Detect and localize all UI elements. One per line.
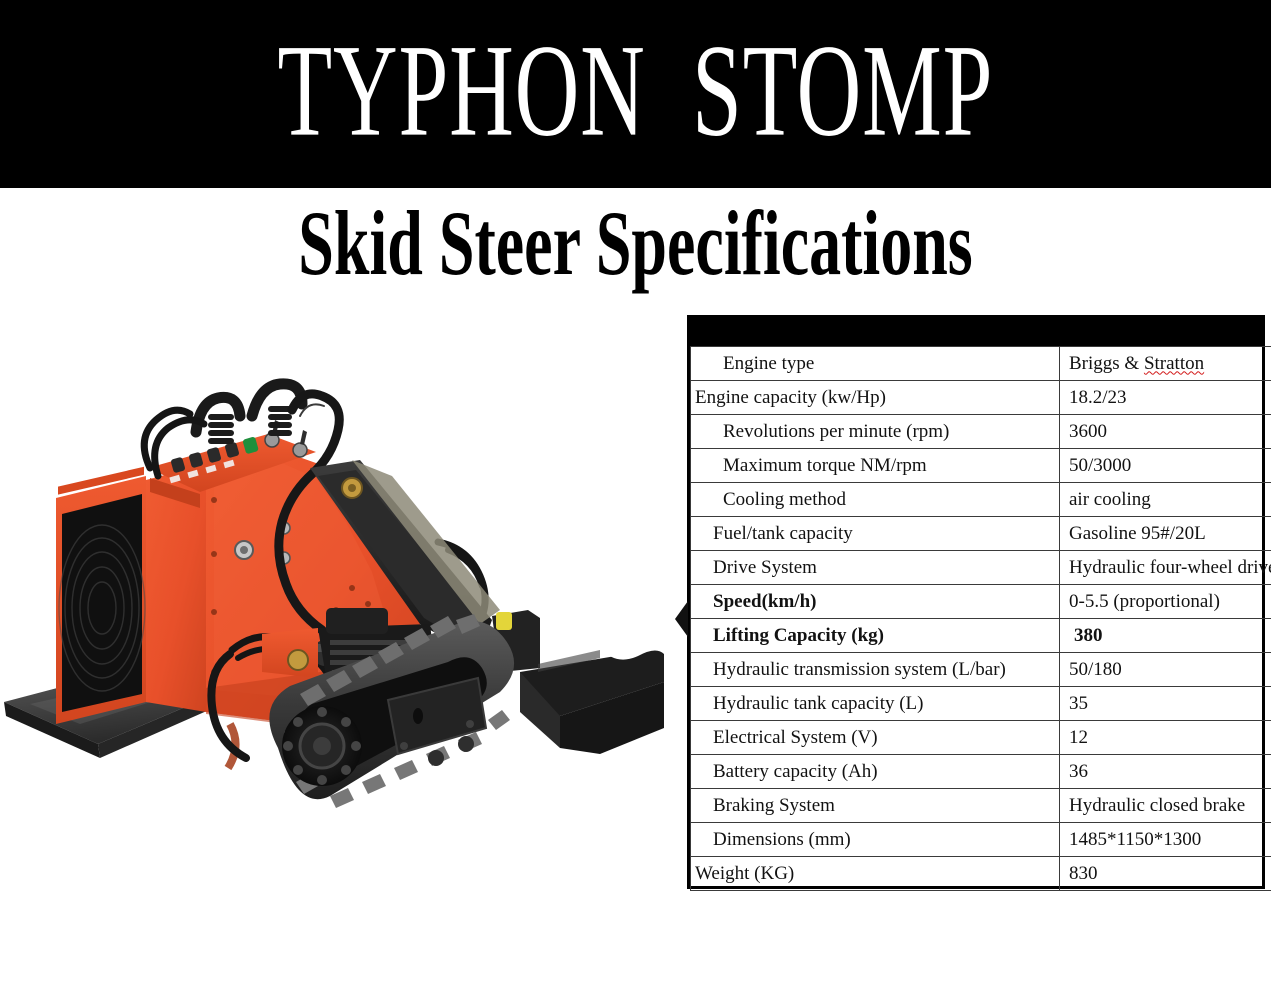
table-row: Electrical System (V) 12 [691, 721, 1271, 755]
spec-label: Hydraulic transmission system (L/bar) [691, 653, 1060, 687]
table-row: Battery capacity (Ah) 36 [691, 755, 1271, 789]
table-header-bar [690, 318, 1262, 346]
table-row: Lifting Capacity (kg) 380 [691, 619, 1271, 653]
spec-label: Speed(km/h) [691, 585, 1060, 619]
table-row: Dimensions (mm) 1485*1150*1300 [691, 823, 1271, 857]
spec-value: 50/3000 [1060, 449, 1271, 483]
table-row: Drive System Hydraulic four-wheel drive [691, 551, 1271, 585]
spec-label: Dimensions (mm) [691, 823, 1060, 857]
spec-label: Electrical System (V) [691, 721, 1060, 755]
table-row: Speed(km/h) 0-5.5 (proportional) [691, 585, 1271, 619]
spec-value: Briggs & Stratton [1060, 347, 1271, 381]
spec-label: Braking System [691, 789, 1060, 823]
spec-value: 1485*1150*1300 [1060, 823, 1271, 857]
spec-value: 35 [1060, 687, 1271, 721]
spec-label: Fuel/tank capacity [691, 517, 1060, 551]
title-banner: TYPHON STOMP [0, 0, 1271, 188]
product-photo [0, 372, 664, 820]
spec-value: 380 [1060, 619, 1271, 653]
table-row: Cooling method air cooling [691, 483, 1271, 517]
spec-value: Hydraulic four-wheel drive [1060, 551, 1271, 585]
spec-value: 50/180 [1060, 653, 1271, 687]
specifications-table: Engine type Briggs & Stratton Engine cap… [687, 315, 1265, 889]
left-arrow-marker-icon [672, 599, 692, 639]
spec-label: Weight (KG) [691, 857, 1060, 891]
spec-label: Hydraulic tank capacity (L) [691, 687, 1060, 721]
spec-value: Gasoline 95#/20L [1060, 517, 1271, 551]
table-row: Hydraulic tank capacity (L) 35 [691, 687, 1271, 721]
table-row: Maximum torque NM/rpm 50/3000 [691, 449, 1271, 483]
table-row: Weight (KG) 830 [691, 857, 1271, 891]
spec-value: 18.2/23 [1060, 381, 1271, 415]
spec-label: Engine type [691, 347, 1060, 381]
table-row: Braking System Hydraulic closed brake [691, 789, 1271, 823]
spec-label: Maximum torque NM/rpm [691, 449, 1060, 483]
spec-value: 12 [1060, 721, 1271, 755]
table-row: Fuel/tank capacity Gasoline 95#/20L [691, 517, 1271, 551]
spec-value: 0-5.5 (proportional) [1060, 585, 1271, 619]
radiator-housing [56, 467, 146, 724]
table-row: Revolutions per minute (rpm) 3600 [691, 415, 1271, 449]
subtitle: Skid Steer Specifications [298, 198, 972, 290]
subtitle-area: Skid Steer Specifications [0, 190, 1271, 298]
spec-rows-table: Engine type Briggs & Stratton Engine cap… [690, 346, 1271, 891]
table-row: Engine capacity (kw/Hp) 18.2/23 [691, 381, 1271, 415]
spec-value: 3600 [1060, 415, 1271, 449]
drive-sprocket [282, 706, 362, 786]
table-row: Engine type Briggs & Stratton [691, 347, 1271, 381]
spec-label: Battery capacity (Ah) [691, 755, 1060, 789]
spec-label: Drive System [691, 551, 1060, 585]
spec-value: air cooling [1060, 483, 1271, 517]
spec-label: Cooling method [691, 483, 1060, 517]
spec-value: 830 [1060, 857, 1271, 891]
skid-steer-illustration [0, 372, 664, 820]
spec-value: Hydraulic closed brake [1060, 789, 1271, 823]
spec-value: 36 [1060, 755, 1271, 789]
spec-label: Engine capacity (kw/Hp) [691, 381, 1060, 415]
spec-label: Revolutions per minute (rpm) [691, 415, 1060, 449]
spec-label: Lifting Capacity (kg) [691, 619, 1060, 653]
table-row: Hydraulic transmission system (L/bar) 50… [691, 653, 1271, 687]
page-title: TYPHON STOMP [278, 25, 994, 157]
